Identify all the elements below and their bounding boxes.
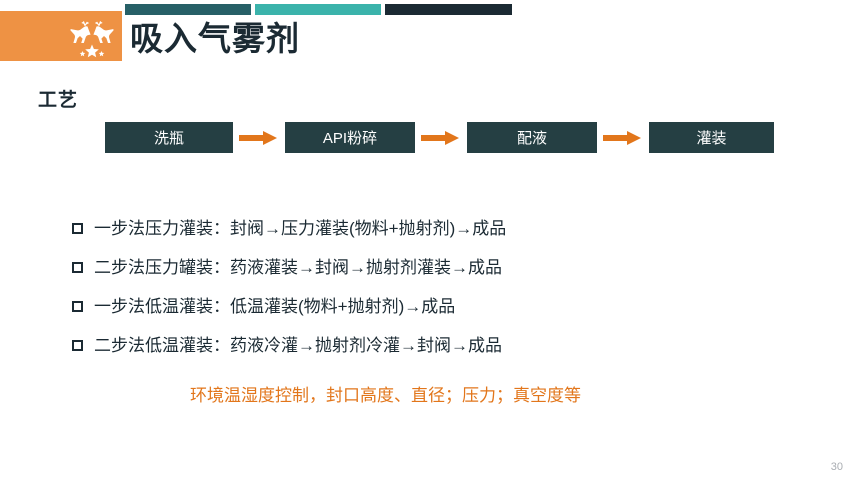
twin-deer-emblem-icon bbox=[66, 13, 118, 59]
list-item: 二步法低温灌装：药液冷灌→抛射剂冷灌→封阀→成品 bbox=[72, 333, 832, 372]
page-number: 30 bbox=[831, 461, 843, 473]
bullet-list: 一步法压力灌装：封阀→压力灌装(物料+抛射剂)→成品 二步法压力罐装：药液灌装→… bbox=[72, 216, 832, 372]
square-bullet-icon bbox=[72, 262, 83, 273]
flow-step-3: 配液 bbox=[467, 122, 597, 153]
flow-step-1: 洗瓶 bbox=[105, 122, 233, 153]
list-item-label: 一步法压力灌装：封阀→压力灌装(物料+抛射剂)→成品 bbox=[94, 216, 506, 242]
emphasis-note: 环境温湿度控制，封口高度、直径；压力；真空度等 bbox=[190, 383, 581, 409]
section-heading: 工艺 bbox=[38, 85, 78, 112]
flow-arrow-2-icon bbox=[415, 122, 467, 153]
square-bullet-icon bbox=[72, 340, 83, 351]
list-item: 二步法压力罐装：药液灌装→封阀→抛射剂灌装→成品 bbox=[72, 255, 832, 294]
flow-step-4: 灌装 bbox=[649, 122, 774, 153]
page-title: 吸入气雾剂 bbox=[130, 19, 300, 59]
square-bullet-icon bbox=[72, 301, 83, 312]
list-item: 一步法低温灌装：低温灌装(物料+抛射剂)→成品 bbox=[72, 294, 832, 333]
list-item: 一步法压力灌装：封阀→压力灌装(物料+抛射剂)→成品 bbox=[72, 216, 832, 255]
header-bar-navy bbox=[385, 4, 512, 15]
list-item-label: 一步法低温灌装：低温灌装(物料+抛射剂)→成品 bbox=[94, 294, 455, 320]
process-flow-diagram: 洗瓶 API粉碎 配液 灌装 bbox=[105, 122, 774, 153]
header-bar-dark-teal bbox=[125, 4, 251, 15]
flow-arrow-1-icon bbox=[233, 122, 285, 153]
slide: 吸入气雾剂 工艺 洗瓶 API粉碎 配液 灌装 一步法压力灌装：封阀→压力灌装(… bbox=[0, 0, 867, 485]
list-item-label: 二步法低温灌装：药液冷灌→抛射剂冷灌→封阀→成品 bbox=[94, 333, 502, 359]
square-bullet-icon bbox=[72, 223, 83, 234]
flow-step-2: API粉碎 bbox=[285, 122, 415, 153]
flow-arrow-3-icon bbox=[597, 122, 649, 153]
list-item-label: 二步法压力罐装：药液灌装→封阀→抛射剂灌装→成品 bbox=[94, 255, 502, 281]
logo-block bbox=[0, 11, 122, 61]
header-bar-teal bbox=[255, 4, 381, 15]
